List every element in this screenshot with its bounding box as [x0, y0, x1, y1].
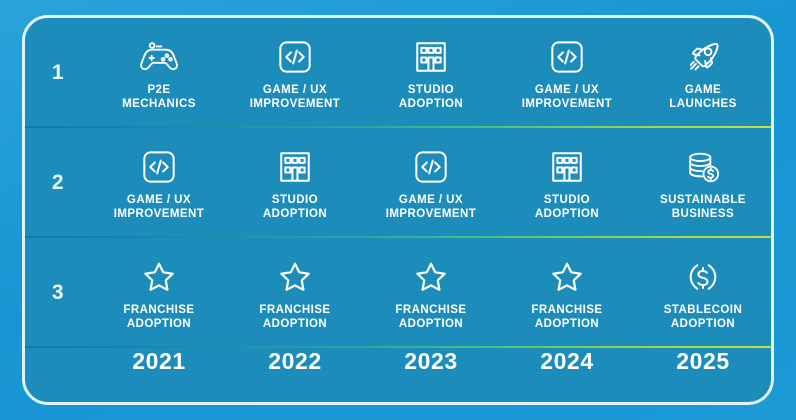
cell-label: GAME / UX IMPROVEMENT: [250, 84, 341, 111]
cell-label: FRANCHISE ADOPTION: [395, 304, 466, 331]
cell-label: GAME / UX IMPROVEMENT: [386, 194, 477, 221]
gamepad-icon: [137, 35, 181, 79]
cell-label: STUDIO ADOPTION: [535, 194, 599, 221]
code-icon: [273, 35, 317, 79]
roadmap-panel: 1: [22, 15, 774, 405]
cell-r1c5[interactable]: GAME LAUNCHES: [635, 18, 771, 128]
cell-label: STUDIO ADOPTION: [399, 84, 463, 111]
cell-r3c4[interactable]: FRANCHISE ADOPTION: [499, 238, 635, 348]
row-number-3: 3: [25, 281, 91, 305]
cell-label: FRANCHISE ADOPTION: [259, 304, 330, 331]
cell-r2c1[interactable]: GAME / UX IMPROVEMENT: [91, 128, 227, 238]
cell-label: GAME / UX IMPROVEMENT: [522, 84, 613, 111]
roadmap-row-3: 3 FRANCHISE ADOPTION: [25, 238, 771, 348]
cell-label: STABLECOIN ADOPTION: [664, 304, 742, 331]
cell-r3c5[interactable]: STABLECOIN ADOPTION: [635, 238, 771, 348]
code-icon: [137, 145, 181, 189]
year-label-2022: 2022: [227, 348, 363, 405]
year-label-2023: 2023: [363, 348, 499, 405]
code-icon: [545, 35, 589, 79]
code-icon: [409, 145, 453, 189]
cell-label: STUDIO ADOPTION: [263, 194, 327, 221]
star-icon: [137, 255, 181, 299]
rocket-icon: [681, 35, 725, 79]
row-number-1: 1: [25, 61, 91, 85]
cell-r1c3[interactable]: STUDIO ADOPTION: [363, 18, 499, 128]
year-cells: 2021 2022 2023 2024 2025: [91, 348, 771, 405]
cell-label: SUSTAINABLE BUSINESS: [660, 194, 746, 221]
building-icon: [545, 145, 589, 189]
star-icon: [545, 255, 589, 299]
year-label-2025: 2025: [635, 348, 771, 405]
cell-label: FRANCHISE ADOPTION: [123, 304, 194, 331]
row-2-cells: GAME / UX IMPROVEMENT: [91, 128, 771, 238]
cell-label: P2E MECHANICS: [122, 84, 196, 111]
roadmap-row-2: 2 GAME / UX IMPROVEMENT: [25, 128, 771, 238]
cell-r2c3[interactable]: GAME / UX IMPROVEMENT: [363, 128, 499, 238]
infographic-canvas: 1: [0, 0, 796, 420]
roadmap-row-1: 1: [25, 18, 771, 128]
cell-r3c2[interactable]: FRANCHISE ADOPTION: [227, 238, 363, 348]
building-icon: [409, 35, 453, 79]
roadmap-grid: 1: [25, 18, 771, 402]
star-icon: [273, 255, 317, 299]
dollar-circle-icon: [681, 255, 725, 299]
year-label-2024: 2024: [499, 348, 635, 405]
cell-label: GAME LAUNCHES: [669, 84, 737, 111]
cell-label: GAME / UX IMPROVEMENT: [114, 194, 205, 221]
coin-stack-icon: [681, 145, 725, 189]
year-label-2021: 2021: [91, 348, 227, 405]
row-3-cells: FRANCHISE ADOPTION FRANCHISE ADOPTION: [91, 238, 771, 348]
row-1-cells: P2E MECHANICS GAME / UX IMPROVEMENT: [91, 18, 771, 128]
cell-r1c1[interactable]: P2E MECHANICS: [91, 18, 227, 128]
row-number-2: 2: [25, 171, 91, 195]
cell-r3c3[interactable]: FRANCHISE ADOPTION: [363, 238, 499, 348]
cell-r1c4[interactable]: GAME / UX IMPROVEMENT: [499, 18, 635, 128]
cell-r2c5[interactable]: SUSTAINABLE BUSINESS: [635, 128, 771, 238]
cell-r1c2[interactable]: GAME / UX IMPROVEMENT: [227, 18, 363, 128]
year-axis-row: 2021 2022 2023 2024 2025: [25, 348, 771, 405]
cell-r2c2[interactable]: STUDIO ADOPTION: [227, 128, 363, 238]
cell-label: FRANCHISE ADOPTION: [531, 304, 602, 331]
cell-r2c4[interactable]: STUDIO ADOPTION: [499, 128, 635, 238]
star-icon: [409, 255, 453, 299]
cell-r3c1[interactable]: FRANCHISE ADOPTION: [91, 238, 227, 348]
building-icon: [273, 145, 317, 189]
